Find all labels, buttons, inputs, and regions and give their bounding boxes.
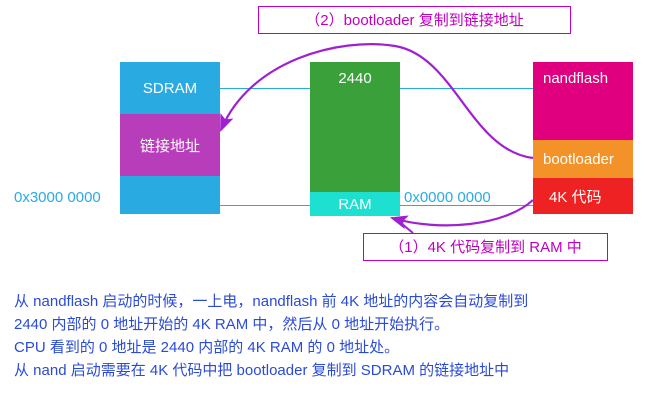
block-2440: 2440 [310, 62, 400, 192]
connector-line-sdram-to-soc-bottom [220, 205, 310, 206]
explanation-text: 从 nandflash 启动的时候，一上电，nandflash 前 4K 地址的… [14, 290, 654, 382]
connector-line-sdram-to-soc-top [220, 88, 310, 89]
explanation-line-4: 从 nand 启动需要在 4K 代码中把 bootloader 复制到 SDRA… [14, 359, 654, 382]
explanation-line-2: 2440 内部的 0 地址开始的 4K RAM 中，然后从 0 地址开始执行。 [14, 313, 654, 336]
arrow-callout1-leader [396, 219, 413, 233]
callout-4k-code-copy-to-ram: （1）4K 代码复制到 RAM 中 [363, 233, 608, 261]
address-label-sdram: 0x3000 0000 [14, 189, 101, 206]
block-4k-code: 4K 代码 [533, 178, 633, 214]
block-link-address: 链接地址 [120, 114, 220, 176]
block-nandflash: nandflash [533, 62, 633, 140]
block-internal-ram: RAM [310, 192, 400, 216]
connector-line-soc-to-nandflash-top [400, 88, 533, 89]
callout-bootloader-copy-to-link-address: （2）bootloader 复制到链接地址 [258, 6, 571, 34]
block-sdram-bottom [120, 176, 220, 214]
explanation-line-3: CPU 看到的 0 地址是 2440 内部的 4K RAM 的 0 地址处。 [14, 336, 654, 359]
block-sdram: SDRAM [120, 62, 220, 114]
block-bootloader: bootloader [533, 140, 633, 178]
diagram-canvas: （2）bootloader 复制到链接地址 SDRAM 链接地址 0x3000 … [0, 0, 663, 401]
address-label-2440: 0x0000 0000 [404, 189, 491, 206]
explanation-line-1: 从 nandflash 启动的时候，一上电，nandflash 前 4K 地址的… [14, 290, 654, 313]
